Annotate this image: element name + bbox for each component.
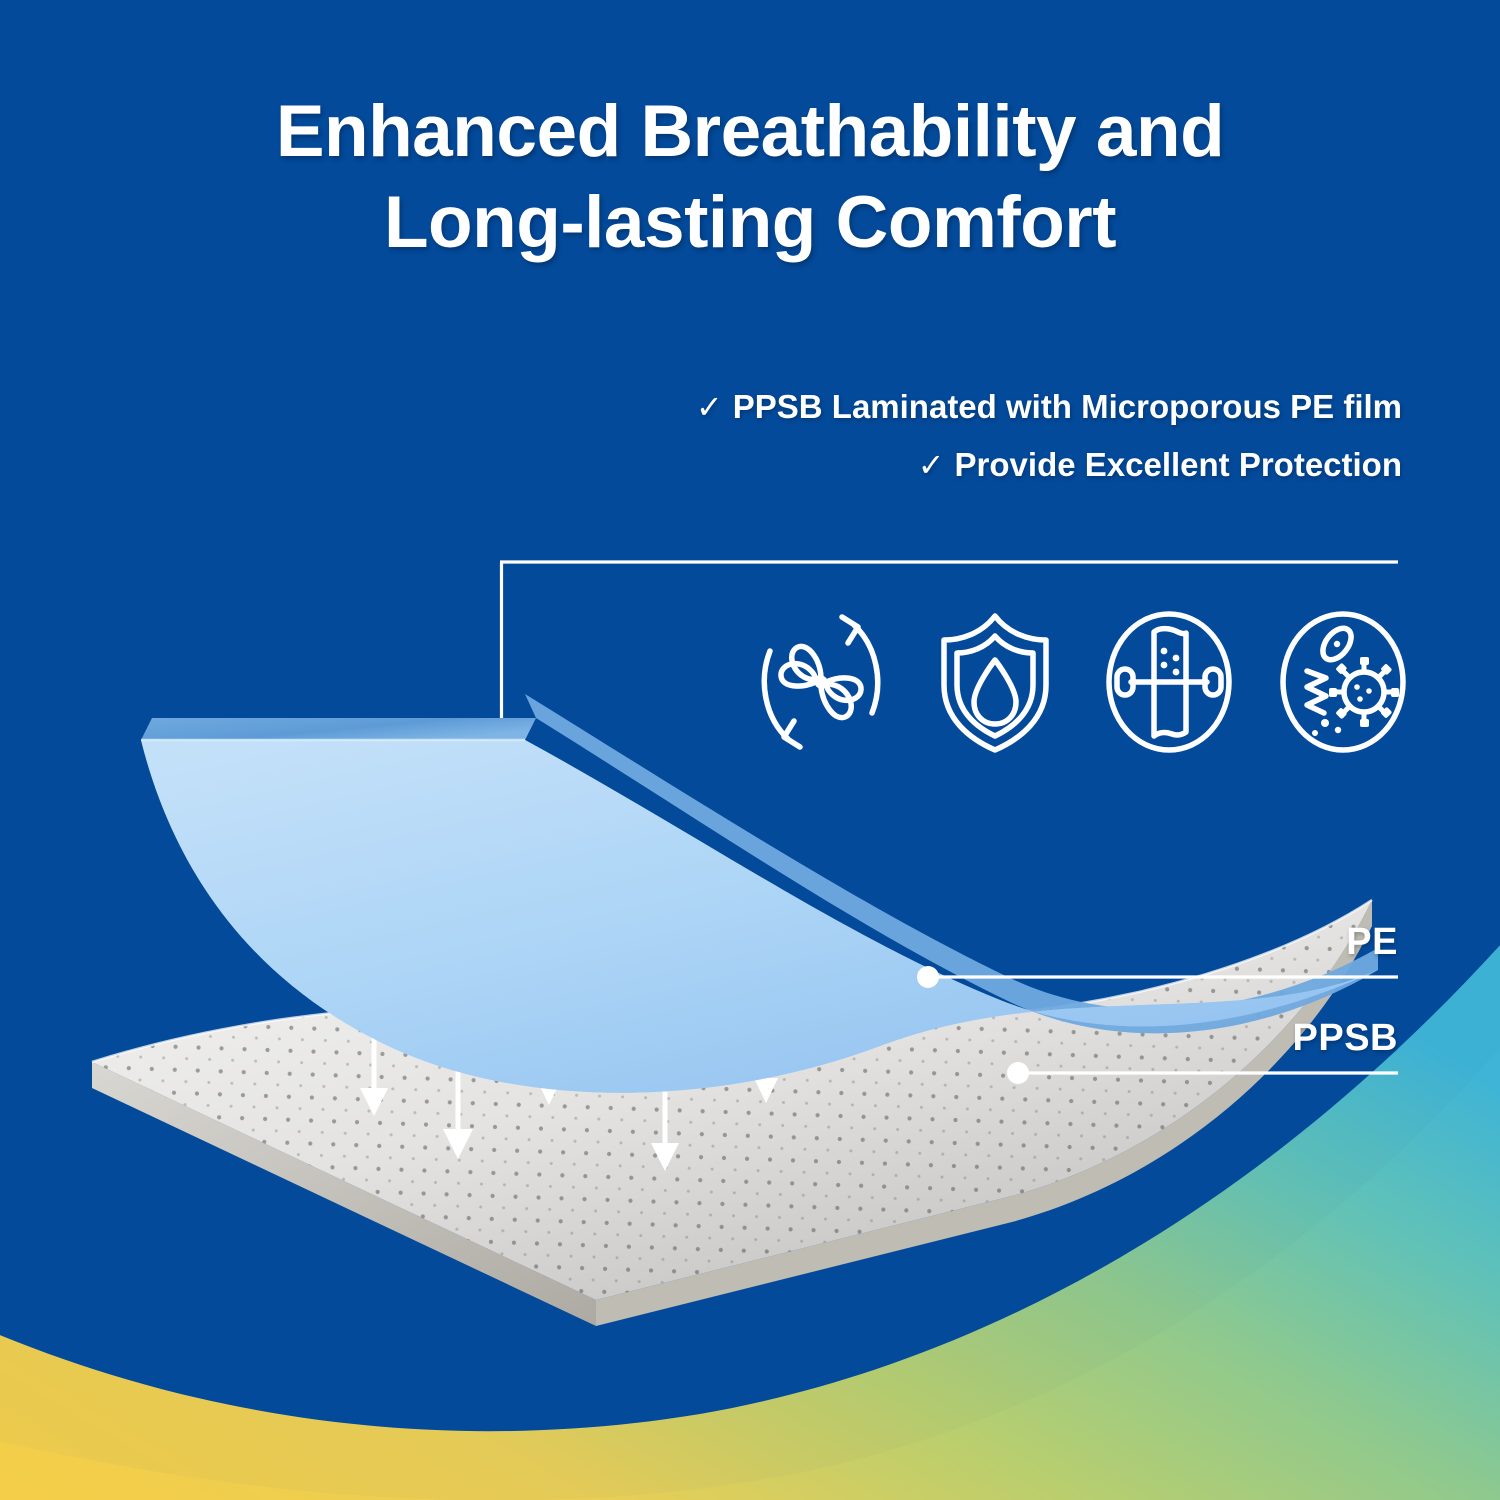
- airflow-arrow: [443, 851, 473, 1159]
- list-item-label: Provide Excellent Protection: [955, 446, 1402, 483]
- layer-label-ppsb: PPSB: [1293, 1017, 1398, 1060]
- list-item: ✓Provide Excellent Protection: [696, 436, 1402, 494]
- infographic-page: Enhanced Breathability and Long-lasting …: [0, 0, 1500, 1500]
- airflow-arrow: [651, 959, 679, 1171]
- fabric-tensile-strength-icon: [1094, 603, 1244, 761]
- list-item: ✓PPSB Laminated with Microporous PE film: [696, 378, 1402, 436]
- shield-waterdrop-icon: [920, 603, 1070, 761]
- airflow-arrow: [536, 971, 562, 1105]
- layer-label-pe: PE: [1346, 921, 1398, 964]
- list-item-label: PPSB Laminated with Microporous PE film: [733, 388, 1402, 425]
- feature-icon-strip: [746, 602, 1418, 762]
- page-title: Enhanced Breathability and Long-lasting …: [0, 86, 1500, 269]
- airflow-arrow: [360, 890, 388, 1116]
- airflow-arrow: [754, 1007, 778, 1103]
- airflow-arrows: [360, 851, 778, 1171]
- breathability-fan-icon: [746, 603, 896, 761]
- germ-bacteria-barrier-icon: [1268, 603, 1418, 761]
- pe-callout-dot: [917, 966, 939, 988]
- check-icon: ✓: [918, 437, 945, 493]
- ppsb-layer: [80, 890, 1390, 1340]
- check-icon: ✓: [696, 379, 723, 435]
- feature-bullet-list: ✓PPSB Laminated with Microporous PE film…: [696, 378, 1402, 494]
- ppsb-callout-dot: [1007, 1062, 1029, 1084]
